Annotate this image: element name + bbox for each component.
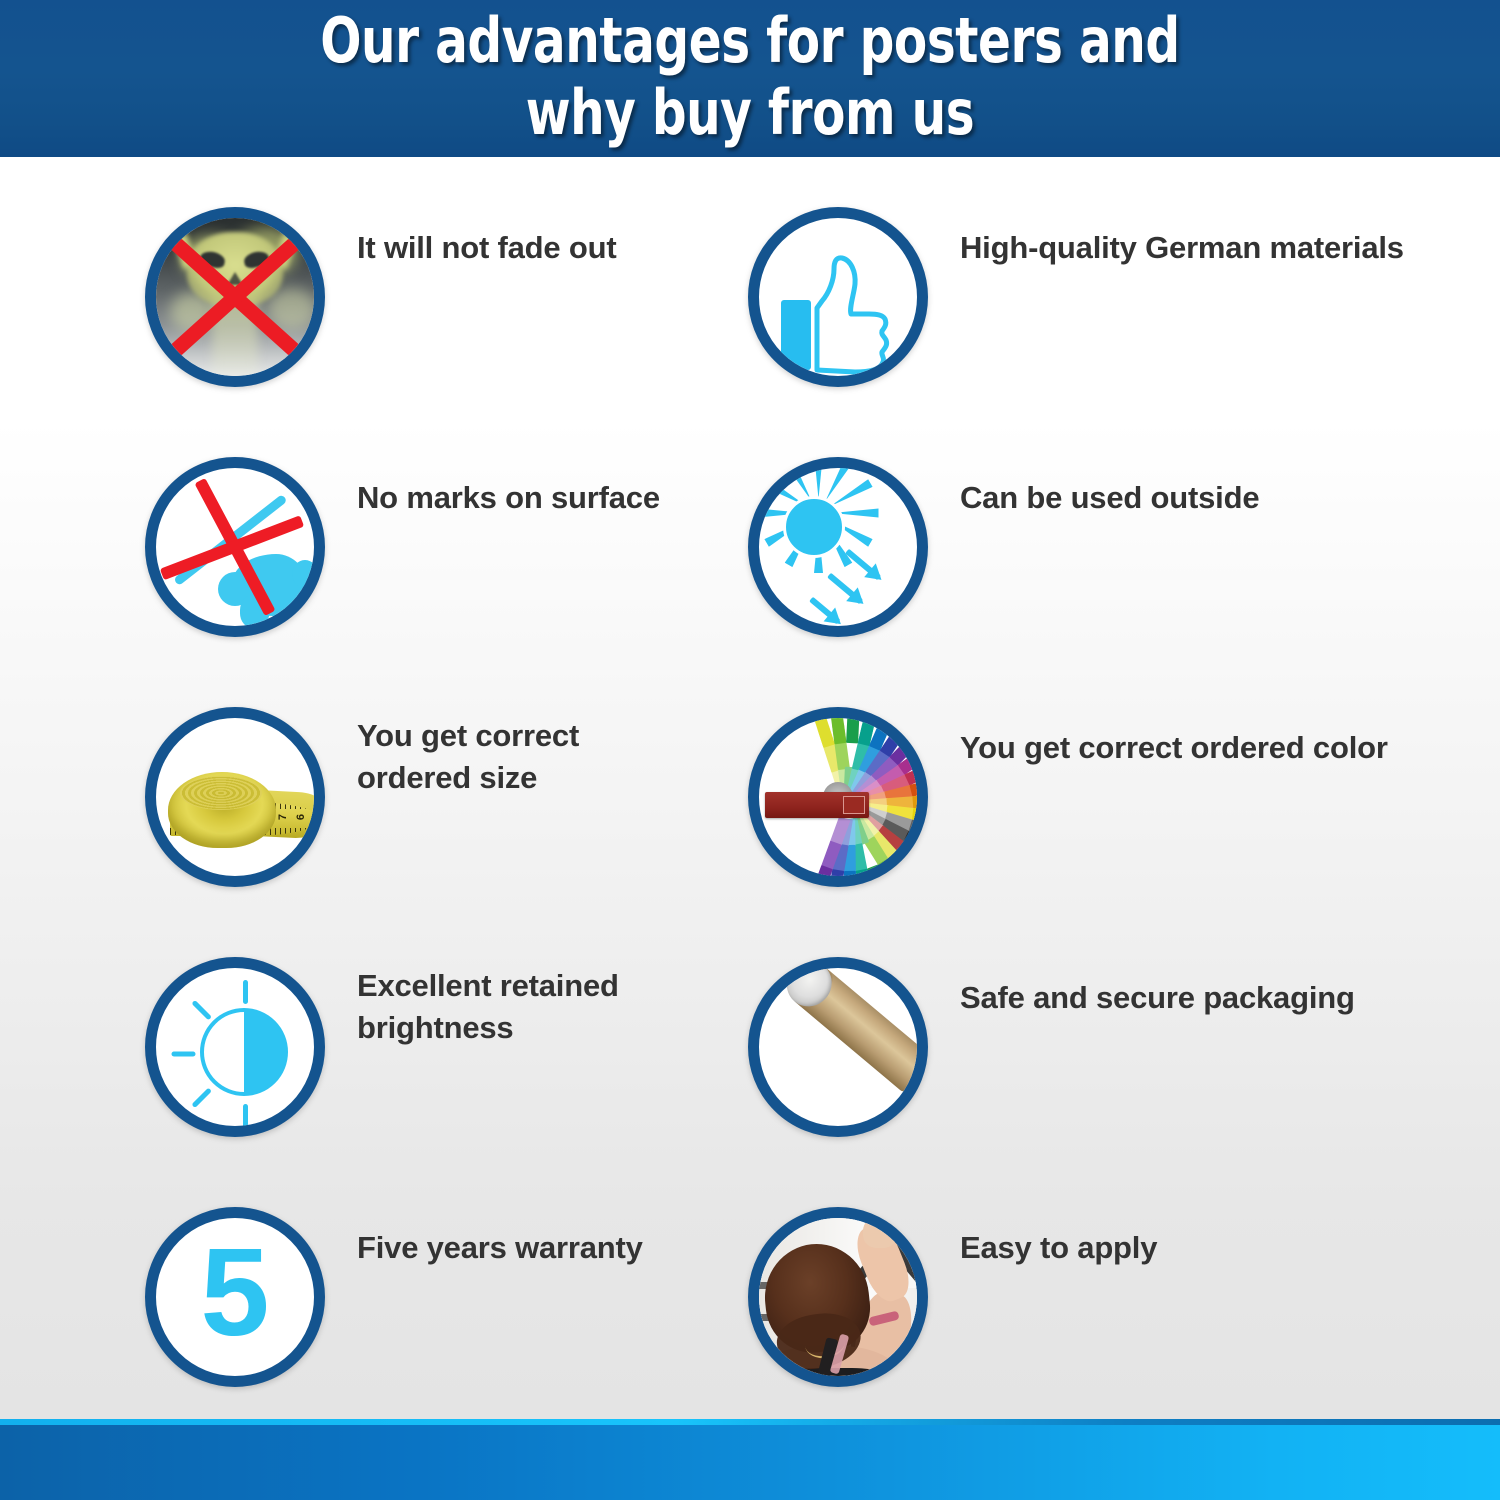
feature-label: Can be used outside <box>960 477 1360 519</box>
tape-number: 6 <box>295 814 307 820</box>
measuring-tape-icon: 12 11 10 9 8 7 6 <box>145 707 325 887</box>
sun-ray-arrow <box>827 573 863 605</box>
feature-label: Excellent retained brightness <box>357 965 697 1049</box>
feature-item-correct-color[interactable]: You get correct ordered color <box>748 707 1448 897</box>
feature-label: It will not fade out <box>357 227 657 269</box>
sun-ray-arrow <box>809 597 840 625</box>
features-grid: It will not fade out High-quality German… <box>0 157 1500 1425</box>
feature-item-secure-packaging[interactable]: Safe and secure packaging <box>748 957 1448 1147</box>
fan-blade <box>800 865 833 887</box>
feature-item-warranty[interactable]: 5 Five years warranty <box>145 1207 705 1397</box>
fan-blade <box>844 871 857 887</box>
feature-label: No marks on surface <box>357 477 697 519</box>
mailing-tube-icon <box>748 957 928 1137</box>
feature-item-retained-brightness[interactable]: Excellent retained brightness <box>145 957 705 1147</box>
feature-label: Five years warranty <box>357 1227 757 1269</box>
sun-ray-arrow <box>845 549 881 581</box>
woman-applying-decal-photo-icon <box>748 1207 928 1387</box>
fan-swatch-bar <box>765 792 869 818</box>
feature-item-fade-out[interactable]: It will not fade out <box>145 207 665 397</box>
fan-blade <box>804 707 835 748</box>
red-cross-out-icon <box>156 218 314 376</box>
thumbs-up-icon <box>748 207 928 387</box>
feature-item-easy-apply[interactable]: Easy to apply <box>748 1207 1448 1397</box>
page-header: Our advantages for posters and why buy f… <box>0 0 1500 157</box>
feature-label: You get correct ordered color <box>960 727 1440 769</box>
page-title: Our advantages for posters and why buy f… <box>320 5 1179 153</box>
page-footer <box>0 1425 1500 1500</box>
warranty-years-value: 5 <box>156 1218 314 1376</box>
feature-item-german-materials[interactable]: High-quality German materials <box>748 207 1448 397</box>
feature-label: You get correct ordered size <box>357 715 697 799</box>
sun-with-rays-icon <box>748 457 928 637</box>
brightness-half-circle-icon <box>145 957 325 1137</box>
feature-item-correct-size[interactable]: 12 11 10 9 8 7 6 You get correct ordered… <box>145 707 705 897</box>
sun-core <box>783 496 845 558</box>
feature-item-no-marks[interactable]: No marks on surface <box>145 457 705 647</box>
feature-label: Safe and secure packaging <box>960 977 1440 1019</box>
no-fade-skull-smoke-icon <box>145 207 325 387</box>
color-fan-deck-icon <box>748 707 928 887</box>
feature-label: Easy to apply <box>960 1227 1380 1269</box>
tape-number: 7 <box>277 814 289 820</box>
feature-item-outside-use[interactable]: Can be used outside <box>748 457 1368 647</box>
footer-accent-line <box>0 1419 1500 1425</box>
brightness-dial <box>200 1008 288 1096</box>
number-five-icon: 5 <box>145 1207 325 1387</box>
thumb-cuff <box>781 300 811 370</box>
feature-label: High-quality German materials <box>960 227 1440 269</box>
no-marks-blob-crossed-icon <box>145 457 325 637</box>
